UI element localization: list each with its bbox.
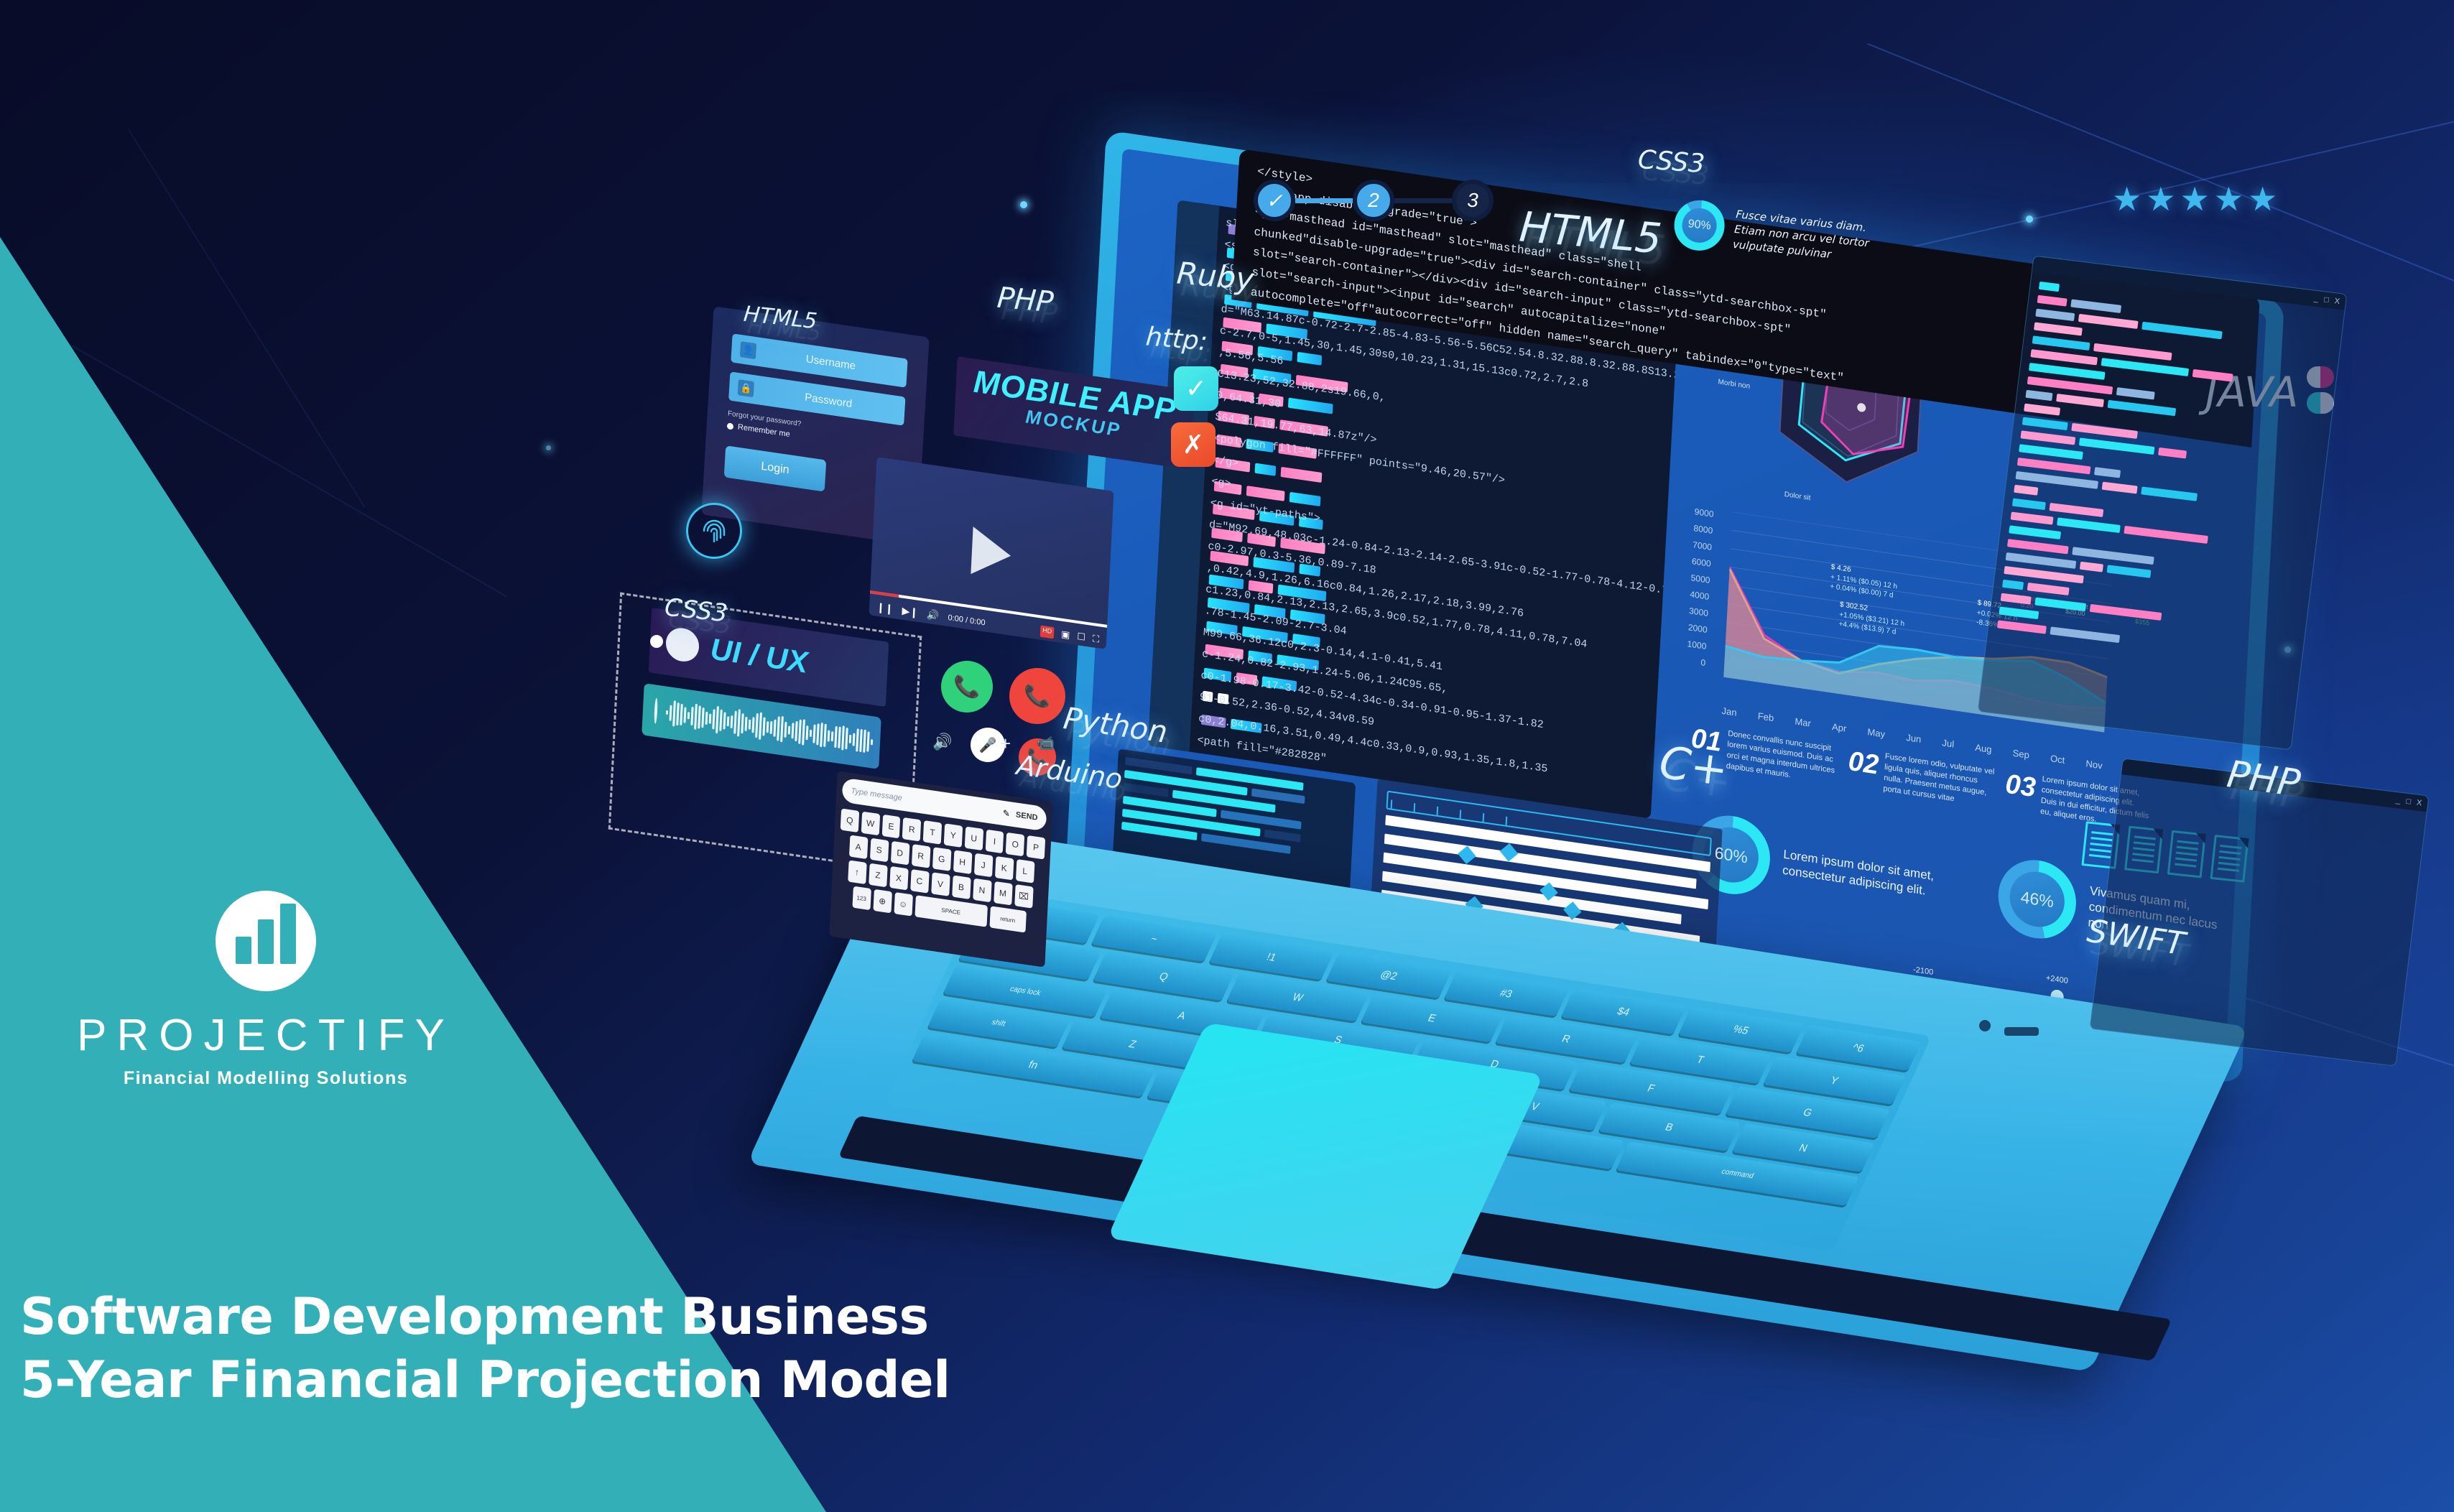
key-m[interactable]: M: [994, 881, 1013, 906]
radar-label: Dolor sit: [1784, 491, 1810, 502]
play-icon[interactable]: [971, 527, 1011, 580]
code-token: [2025, 390, 2052, 401]
pencil-icon[interactable]: ✎: [1003, 808, 1011, 819]
code-token: [2034, 322, 2083, 335]
code-token: [2037, 295, 2068, 307]
key-r[interactable]: R: [911, 844, 930, 868]
key-n[interactable]: N: [973, 878, 992, 903]
x-tick: Jul: [1942, 737, 1954, 749]
code-token: [2141, 486, 2198, 501]
code-token: [1203, 667, 1231, 682]
code-token: [1216, 458, 1251, 473]
donut-stat: 60%Lorem ipsum dolor sit amet, consectet…: [1690, 810, 1936, 923]
close-icon[interactable]: X: [2334, 297, 2340, 306]
code-token: [2108, 400, 2177, 416]
code-token: [1292, 634, 1320, 648]
label-php-top: PHP: [996, 282, 1055, 320]
x-tick: Nov: [2085, 758, 2103, 771]
key-⌧[interactable]: ⌧: [1014, 884, 1034, 909]
key-b[interactable]: B: [952, 875, 971, 899]
code-token: [2017, 458, 2091, 474]
bg-line: [128, 129, 365, 508]
progress-percent: 90%: [1687, 218, 1712, 233]
code-block-list: [1987, 272, 2345, 680]
code-token: [1258, 346, 1293, 361]
code-token: [1259, 511, 1295, 526]
code-token: [1262, 676, 1297, 691]
line-number: 17: [1155, 585, 1198, 614]
code-token: [2049, 503, 2103, 517]
star-icon: ★: [2180, 180, 2210, 218]
key-u[interactable]: U: [964, 826, 983, 850]
key-123[interactable]: 123: [852, 886, 871, 911]
pause-icon[interactable]: ❙❙: [876, 601, 894, 616]
code-token: [2002, 580, 2024, 590]
label-css3-left: CSS3: [663, 593, 729, 629]
code-token: [2050, 626, 2120, 643]
key-e[interactable]: E: [881, 815, 900, 839]
code-token: [2024, 404, 2060, 416]
laptop-port: [2004, 1027, 2039, 1036]
code-token: [1287, 397, 1333, 414]
checkbox-dot-icon: [727, 422, 734, 430]
key-x[interactable]: X: [889, 866, 909, 891]
bar-chart-logo: [216, 891, 316, 991]
code-token: [2116, 387, 2155, 399]
close-icon[interactable]: X: [2416, 799, 2422, 808]
code-token: [1290, 610, 1325, 625]
step-2[interactable]: 2: [1353, 180, 1394, 221]
code-token: [2080, 562, 2103, 572]
code-token: [1253, 557, 1295, 573]
poster-canvas: 12345678910111213141516171819202122 slot…: [0, 0, 2454, 1512]
x-tick: Apr: [1832, 721, 1847, 734]
card-number: 02: [1847, 746, 1880, 794]
code-token: [2009, 525, 2061, 539]
step-connector: [1295, 198, 1353, 203]
code-token: [1277, 584, 1326, 601]
key-return[interactable]: return: [989, 906, 1027, 932]
code-token: [1214, 481, 1242, 495]
code-token: [1297, 352, 1322, 366]
star-icon: ★: [2112, 180, 2142, 218]
speaker-icon[interactable]: 🔊: [932, 733, 952, 751]
key-↑[interactable]: ↑: [848, 860, 867, 884]
key-c[interactable]: C: [910, 869, 930, 894]
code-token: [1279, 419, 1328, 437]
brand-block: PROJECTIFY Financial Modelling Solutions: [43, 891, 489, 1089]
code-token: [1997, 620, 2047, 634]
line-number: 16: [1157, 562, 1200, 591]
key-v[interactable]: V: [931, 872, 950, 896]
minimize-icon[interactable]: _: [2313, 294, 2319, 304]
code-token: [2107, 565, 2152, 578]
line-number: 15: [1158, 538, 1201, 567]
username-placeholder: Username: [805, 353, 856, 372]
star-icon: ★: [2248, 180, 2277, 218]
code-token: [2078, 314, 2139, 329]
label-css3-top: CSS3: [1637, 145, 1706, 179]
key-i[interactable]: I: [985, 830, 1004, 854]
brand-name: PROJECTIFY: [43, 1010, 489, 1061]
bg-star: [1020, 201, 1027, 208]
donut-chart: 46%: [1996, 855, 2078, 944]
label-ruby: Ruby: [1175, 255, 1255, 297]
donut-text: Lorem ipsum dolor sit amet, consectetur …: [1782, 847, 1935, 901]
code-token: [1280, 467, 1322, 483]
headline-line-1: Software Development Business: [20, 1286, 950, 1349]
key-h[interactable]: H: [953, 850, 972, 874]
key-r[interactable]: R: [902, 817, 921, 842]
code-token: [2090, 604, 2162, 621]
message-keyboard-card[interactable]: Type message ✎ SEND QWERTYUIOPASDRGHJKL↑…: [829, 771, 1053, 968]
bar-label: +2400: [2046, 974, 2069, 985]
code-token: [2027, 583, 2070, 595]
key-a[interactable]: A: [848, 835, 868, 859]
code-window-right[interactable]: _ □ X: [1978, 256, 2348, 751]
code-token: [2158, 447, 2187, 459]
line-number: 13: [1160, 491, 1203, 521]
virtual-keyboard[interactable]: QWERTYUIOPASDRGHJKL↑ZXCVBNM⌧123⊕☺SPACEre…: [836, 808, 1045, 934]
code-token: [1254, 604, 1285, 618]
key-t[interactable]: T: [923, 820, 942, 845]
code-token: [2001, 593, 2032, 605]
code-token: [2022, 417, 2068, 430]
code-token: [1248, 651, 1272, 664]
key-z[interactable]: Z: [869, 863, 888, 888]
approve-button[interactable]: ✓: [1174, 366, 1218, 411]
headline-line-2: 5-Year Financial Projection Model: [20, 1349, 950, 1412]
fullscreen-icon[interactable]: ⛶: [1093, 633, 1100, 645]
code-token: [1216, 434, 1241, 447]
code-token: [2019, 444, 2083, 460]
card-number: 03: [2004, 769, 2037, 816]
send-button[interactable]: SEND: [1016, 810, 1038, 822]
phone-decline-icon[interactable]: 📞: [1009, 668, 1065, 724]
volume-icon[interactable]: 🔊: [927, 608, 940, 623]
x-tick: Mar: [1795, 715, 1811, 728]
code-token: [1218, 693, 1228, 705]
code-token: [1206, 621, 1238, 635]
code-token: [2035, 309, 2075, 321]
code-token: [1221, 340, 1253, 355]
selection-handle[interactable]: [650, 635, 663, 648]
x-tick: Jun: [1906, 732, 1922, 745]
code-token: [2071, 423, 2138, 439]
code-token: [2034, 597, 2086, 611]
numbered-card: 02Fusce lorem odio, vulputate vel ligula…: [1847, 746, 1995, 810]
code-token: [1246, 486, 1285, 501]
y-tick: 0: [1673, 654, 1705, 674]
code-token: [1205, 644, 1244, 660]
next-track-icon[interactable]: ▶❙: [902, 605, 918, 619]
label-http: http:: [1144, 322, 1208, 356]
line-number: 18: [1154, 608, 1197, 638]
code-token: [2070, 299, 2121, 312]
code-token: [1208, 598, 1249, 613]
label-php-right: PHP: [2224, 753, 2302, 806]
code-token: [1254, 416, 1275, 429]
key-q[interactable]: Q: [841, 808, 859, 832]
code-token: [1230, 718, 1261, 733]
code-token: [2006, 552, 2077, 569]
line-number: 20: [1152, 655, 1195, 685]
add-call-icon[interactable]: +: [1000, 733, 1011, 755]
phone-accept-icon[interactable]: 📞: [941, 661, 993, 713]
code-token: [2094, 467, 2121, 478]
hd-badge: HD: [1040, 626, 1055, 639]
code-token: [1210, 551, 1249, 567]
code-token: [1296, 375, 1348, 392]
key-o[interactable]: O: [1006, 832, 1024, 857]
star-icon: ★: [2214, 180, 2244, 218]
code-token: [1221, 364, 1249, 379]
picture-in-picture-icon[interactable]: ▣: [1061, 629, 1070, 641]
theater-mode-icon[interactable]: ☐: [1077, 631, 1085, 644]
maximize-icon[interactable]: □: [2406, 797, 2412, 807]
star-rating: ★★★★★: [2112, 180, 2277, 218]
x-tick: Oct: [2050, 753, 2065, 766]
laptop-port: [1979, 1020, 1991, 1031]
brand-tagline: Financial Modelling Solutions: [43, 1068, 489, 1089]
key-s[interactable]: S: [869, 838, 889, 863]
code-token: [1253, 368, 1292, 384]
key-d[interactable]: D: [890, 841, 909, 866]
code-token: [1246, 438, 1274, 453]
code-token: [2030, 349, 2098, 365]
key-⊕[interactable]: ⊕: [873, 889, 892, 914]
code-token: [1266, 324, 1307, 340]
code-token: [1300, 564, 1321, 577]
bg-star: [546, 445, 551, 450]
code-token: [1259, 393, 1283, 407]
code-token: [2007, 539, 2069, 554]
code-token: [1299, 516, 1323, 530]
code-token: [2020, 430, 2075, 445]
message-placeholder: Type message: [851, 787, 997, 816]
card-text: Donec convallis nunc suscipit lorem vari…: [1726, 728, 1838, 787]
code-token: [1999, 606, 2039, 619]
code-token: [1289, 492, 1321, 506]
line-number: 12: [1162, 468, 1205, 498]
donut-percent: 46%: [2020, 887, 2055, 912]
code-token: [1213, 504, 1254, 520]
line-number: 21: [1150, 678, 1193, 708]
code-token: [1211, 527, 1243, 542]
code-token: [2039, 282, 2060, 292]
x-tick: Sep: [2012, 747, 2029, 760]
lock-icon: 🔒: [738, 379, 754, 397]
key-l[interactable]: L: [1015, 859, 1034, 883]
line-number: 14: [1159, 515, 1203, 544]
line-number: 1: [1176, 211, 1219, 241]
step-3[interactable]: 3: [1452, 180, 1494, 221]
code-token: [2014, 485, 2038, 496]
code-token: [2056, 394, 2104, 407]
key-w[interactable]: W: [861, 812, 880, 836]
code-token: [1249, 580, 1273, 593]
code-token: [2012, 498, 2046, 511]
label-cplus: C+: [1657, 736, 1731, 796]
video-time: 0:00 / 0:00: [948, 613, 986, 627]
star-icon: ★: [2146, 180, 2175, 218]
code-token: [1219, 387, 1254, 402]
code-token: [1277, 654, 1319, 670]
reject-button[interactable]: ✗: [1171, 422, 1216, 467]
code-token: [2032, 335, 2090, 351]
code-token: [2193, 369, 2233, 382]
key-y[interactable]: Y: [944, 823, 963, 848]
code-token: [1278, 443, 1317, 459]
key-j[interactable]: J: [973, 853, 993, 878]
code-token: [1203, 691, 1213, 702]
step-indicator[interactable]: ✓23: [1254, 180, 1494, 221]
code-token: [1280, 537, 1325, 554]
key-k[interactable]: K: [994, 856, 1014, 881]
step-connector: [1394, 198, 1452, 203]
x-tick: Jan: [1721, 705, 1737, 718]
maximize-icon[interactable]: □: [2323, 295, 2329, 305]
code-token: [1218, 411, 1249, 425]
key-p[interactable]: P: [1027, 835, 1045, 860]
code-token: [1201, 714, 1226, 728]
code-token: [1223, 317, 1261, 333]
minimize-icon[interactable]: _: [2396, 796, 2402, 805]
login-button[interactable]: Login: [724, 445, 827, 491]
radar-label: Morbi non: [1718, 378, 1750, 390]
card-text: Fusce lorem odio, vulputate vel ligula q…: [1883, 751, 1995, 810]
video-off-icon[interactable]: 📹: [1037, 734, 1055, 752]
fingerprint-icon[interactable]: [686, 503, 742, 559]
code-token: [1255, 463, 1277, 476]
line-number: 19: [1153, 631, 1196, 661]
step-1[interactable]: ✓: [1254, 180, 1295, 221]
code-token: [1247, 533, 1275, 547]
code-token: [1242, 626, 1287, 643]
code-token: [1236, 672, 1258, 685]
x-tick: Feb: [1757, 710, 1774, 723]
code-token: [1209, 574, 1244, 589]
code-token: [2102, 482, 2138, 494]
code-token: [2011, 511, 2054, 524]
x-tick: May: [1867, 726, 1885, 740]
x-tick: Aug: [1975, 742, 1992, 755]
key-g[interactable]: G: [932, 847, 951, 871]
password-placeholder: Password: [805, 391, 853, 410]
key-☺[interactable]: ☺: [894, 892, 913, 917]
page-title: Software Development Business 5-Year Fin…: [20, 1286, 950, 1411]
user-icon: 👤: [740, 341, 756, 359]
code-token: [2057, 517, 2121, 533]
progress-donut: 90%: [1672, 198, 1727, 253]
